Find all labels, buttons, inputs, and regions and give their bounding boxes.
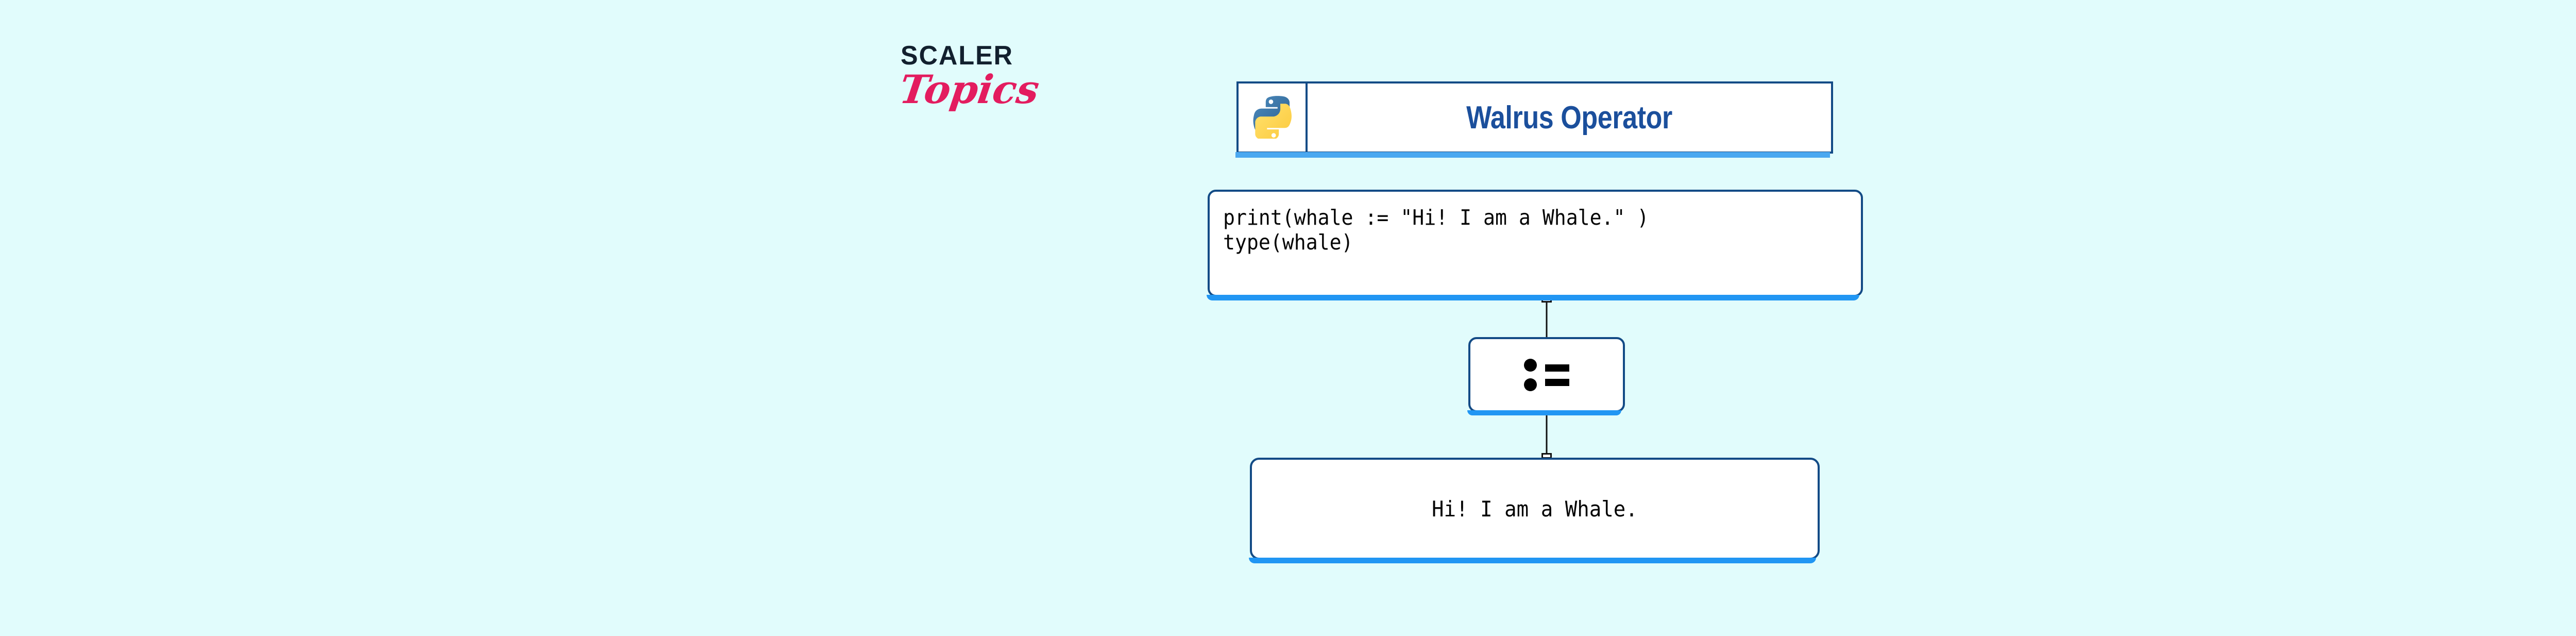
equals-bar-lower-icon bbox=[1545, 379, 1569, 386]
header-title-cell: Walrus Operator bbox=[1308, 83, 1831, 152]
code-text: print(whale := "Hi! I am a Whale." ) typ… bbox=[1223, 205, 1649, 255]
connector-line bbox=[1546, 412, 1548, 459]
colon-dot-upper-icon bbox=[1524, 359, 1537, 372]
connector-code-to-operator bbox=[1541, 297, 1552, 338]
code-block: print(whale := "Hi! I am a Whale." ) typ… bbox=[1208, 190, 1863, 297]
equals-part-icon bbox=[1545, 364, 1569, 386]
output-block: Hi! I am a Whale. bbox=[1250, 458, 1820, 560]
python-logo-icon bbox=[1250, 94, 1294, 141]
diagram-canvas: SCALER Topics bbox=[0, 0, 2576, 636]
output-text: Hi! I am a Whale. bbox=[1432, 496, 1638, 522]
connector-operator-to-output bbox=[1541, 412, 1552, 459]
connector-line bbox=[1546, 297, 1548, 338]
header-banner: Walrus Operator bbox=[1236, 81, 1833, 154]
colon-dot-lower-icon bbox=[1524, 378, 1537, 391]
brand-sub-name: Topics bbox=[897, 70, 1071, 109]
colon-part-icon bbox=[1524, 359, 1537, 391]
scaler-topics-logo: SCALER Topics bbox=[901, 42, 1071, 140]
page-title: Walrus Operator bbox=[1466, 99, 1672, 136]
equals-bar-upper-icon bbox=[1545, 364, 1569, 372]
python-logo-cell bbox=[1239, 83, 1308, 152]
walrus-operator-node bbox=[1468, 337, 1625, 412]
walrus-operator-icon bbox=[1524, 359, 1569, 391]
brand-name: SCALER bbox=[901, 42, 1065, 69]
